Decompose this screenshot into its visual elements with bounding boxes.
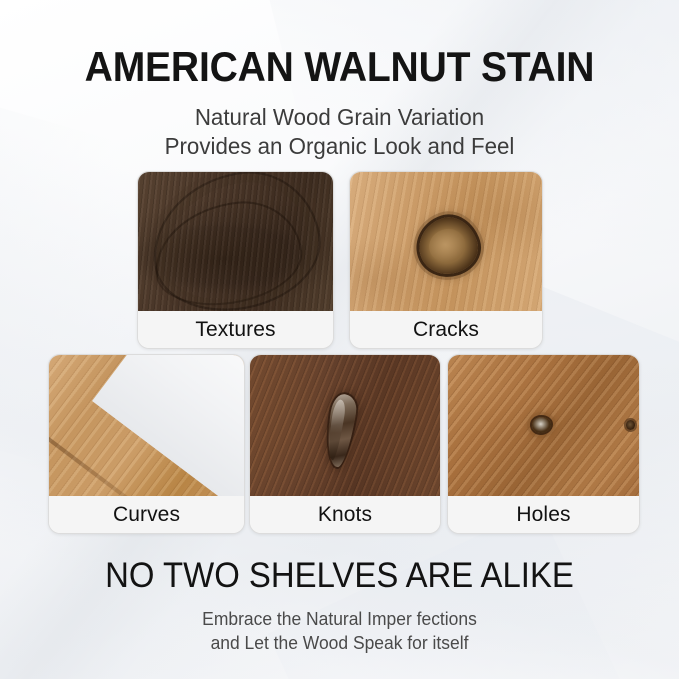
headline-block: AMERICAN WALNUT STAIN Natural Wood Grain… — [0, 44, 679, 160]
card-photo-textures — [138, 172, 333, 311]
card-photo-cracks — [350, 172, 542, 311]
card-photo-knots — [250, 355, 440, 496]
feature-card-curves: Curves — [48, 354, 245, 534]
wood-knot-shape — [412, 210, 484, 281]
subtitle-line-1: Natural Wood Grain Variation — [10, 103, 669, 131]
dark-walnut-grain-swirl-photo — [138, 172, 333, 311]
card-photo-curves — [49, 355, 244, 496]
gnarled-knot-shape — [322, 393, 358, 469]
card-label-holes: Holes — [448, 496, 639, 533]
wood-bore-hole-secondary-shape — [626, 420, 636, 430]
feature-card-knots: Knots — [249, 354, 441, 534]
page-title: AMERICAN WALNUT STAIN — [24, 44, 655, 90]
promo-graphic: AMERICAN WALNUT STAIN Natural Wood Grain… — [0, 0, 679, 679]
footer-line-1: Embrace the Natural Imper fections — [10, 607, 669, 631]
plank-edge-white-cut — [92, 355, 244, 496]
brown-wood-bore-hole-photo — [448, 355, 639, 496]
footer-line-2: and Let the Wood Speak for itself — [10, 631, 669, 655]
light-tan-wood-knot-photo — [350, 172, 542, 311]
card-label-curves: Curves — [49, 496, 244, 533]
feature-card-cracks: Cracks — [349, 171, 543, 349]
footer-block: NO TWO SHELVES ARE ALIKE Embrace the Nat… — [0, 556, 679, 655]
wood-plank-curved-edge-photo — [49, 355, 244, 496]
card-label-cracks: Cracks — [350, 311, 542, 348]
wood-bore-hole-shape — [532, 417, 551, 433]
card-photo-holes — [448, 355, 639, 496]
subtitle-line-2: Provides an Organic Look and Feel — [10, 132, 669, 160]
footer-title: NO TWO SHELVES ARE ALIKE — [20, 556, 658, 596]
content-layer: AMERICAN WALNUT STAIN Natural Wood Grain… — [0, 0, 679, 679]
feature-card-textures: Textures — [137, 171, 334, 349]
feature-card-holes: Holes — [447, 354, 640, 534]
card-label-textures: Textures — [138, 311, 333, 348]
dark-brown-wood-knot-photo — [250, 355, 440, 496]
card-label-knots: Knots — [250, 496, 440, 533]
